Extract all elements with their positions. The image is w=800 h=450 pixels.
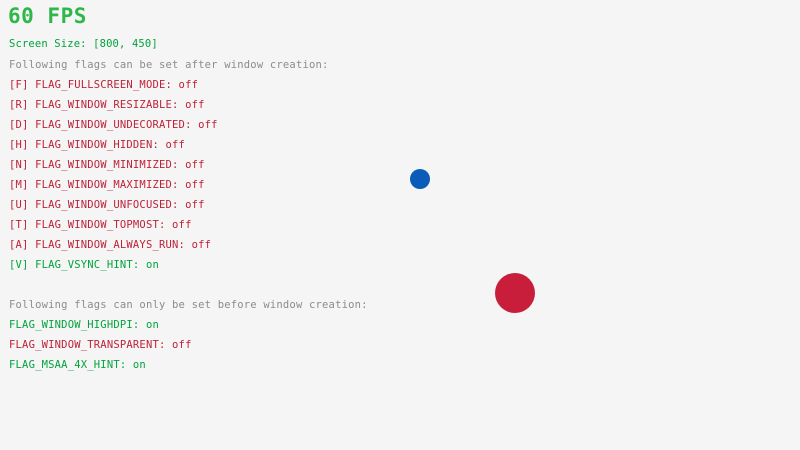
fps-counter: 60 FPS	[8, 6, 87, 27]
section-header-before-creation: Following flags can only be set before w…	[9, 299, 368, 311]
flag-line[interactable]: [U] FLAG_WINDOW_UNFOCUSED: off	[9, 199, 205, 211]
flag-line[interactable]: [M] FLAG_WINDOW_MAXIMIZED: off	[9, 179, 205, 191]
flag-line[interactable]: FLAG_MSAA_4X_HINT: on	[9, 359, 146, 371]
raylib-window-canvas[interactable]: 60 FPS Screen Size: [800, 450] Following…	[0, 0, 800, 450]
flag-line[interactable]: [D] FLAG_WINDOW_UNDECORATED: off	[9, 119, 218, 131]
flag-line[interactable]: FLAG_WINDOW_TRANSPARENT: off	[9, 339, 192, 351]
flag-line[interactable]: [A] FLAG_WINDOW_ALWAYS_RUN: off	[9, 239, 211, 251]
flag-line[interactable]: [R] FLAG_WINDOW_RESIZABLE: off	[9, 99, 205, 111]
flag-line[interactable]: [F] FLAG_FULLSCREEN_MODE: off	[9, 79, 198, 91]
flag-line[interactable]: FLAG_WINDOW_HIGHDPI: on	[9, 319, 159, 331]
section-header-after-creation: Following flags can be set after window …	[9, 59, 329, 71]
flag-line[interactable]: [N] FLAG_WINDOW_MINIMIZED: off	[9, 159, 205, 171]
flag-line[interactable]: [V] FLAG_VSYNC_HINT: on	[9, 259, 159, 271]
screen-size-label: Screen Size: [800, 450]	[9, 38, 158, 50]
red-ball	[495, 273, 535, 313]
flag-line[interactable]: [T] FLAG_WINDOW_TOPMOST: off	[9, 219, 192, 231]
blue-ball	[410, 169, 430, 189]
flag-line[interactable]: [H] FLAG_WINDOW_HIDDEN: off	[9, 139, 185, 151]
